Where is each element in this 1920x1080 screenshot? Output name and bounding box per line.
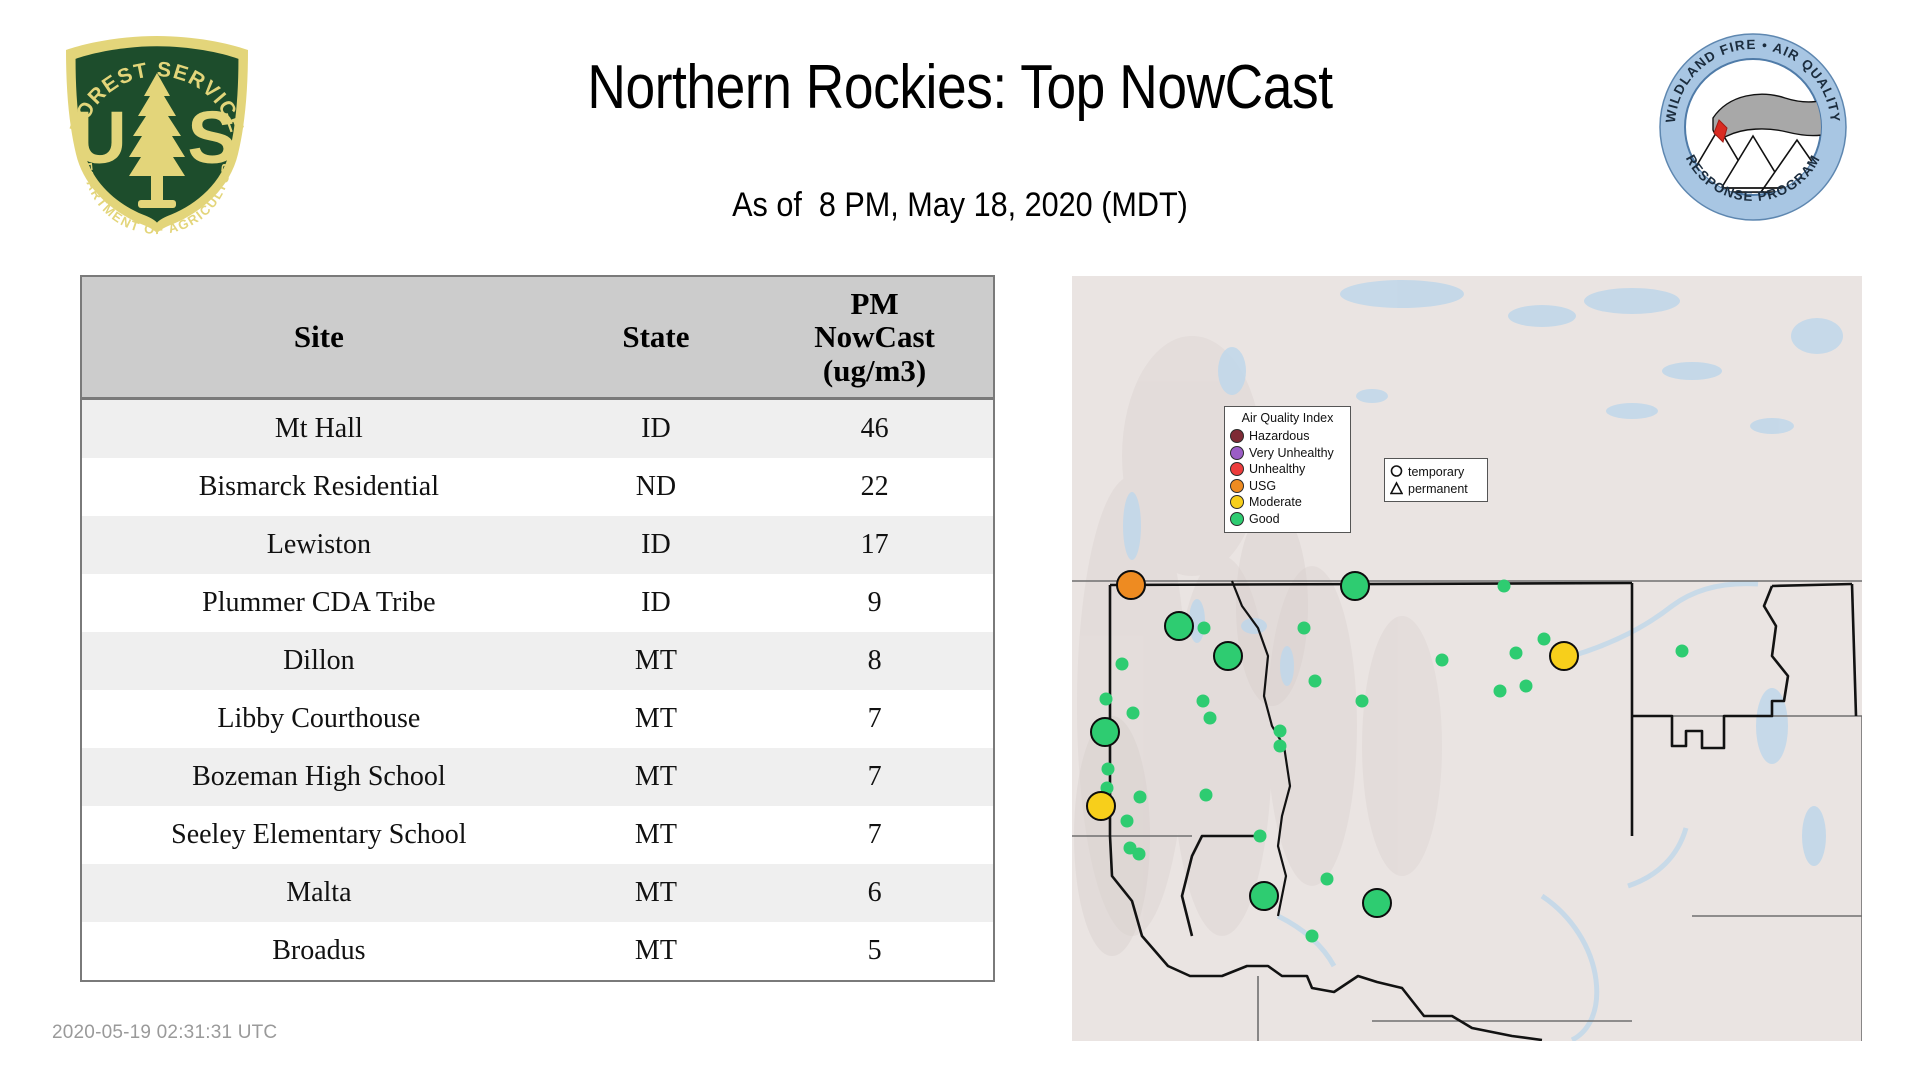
aqi-legend-title: Air Quality Index [1230,411,1345,425]
aqi-legend-label: Unhealthy [1249,462,1305,476]
site-cell: Lewiston [82,516,556,574]
monitor-marker-secondary[interactable] [1498,580,1511,593]
table-header-row: Site State PM NowCast (ug/m3) [82,277,993,399]
site-cell: Malta [82,864,556,922]
aqi-legend-label: Good [1249,512,1280,526]
monitor-marker-secondary[interactable] [1306,930,1319,943]
site-cell: Seeley Elementary School [82,806,556,864]
state-cell: MT [556,690,756,748]
monitor-marker-secondary[interactable] [1298,622,1311,635]
pm-nowcast-cell: 7 [756,690,993,748]
aqi-legend-row: USG [1230,478,1345,495]
monitor-marker-primary[interactable] [1340,571,1370,601]
air-quality-map[interactable]: Air Quality Index HazardousVery Unhealth… [1072,276,1862,1041]
monitor-type-legend: temporary permanent [1384,458,1488,502]
site-cell: Broadus [82,922,556,980]
monitor-marker-secondary[interactable] [1100,693,1113,706]
monitor-marker-secondary[interactable] [1494,685,1507,698]
table-row[interactable]: MaltaMT6 [82,864,993,922]
pm-nowcast-cell: 5 [756,922,993,980]
monitor-marker-secondary[interactable] [1510,647,1523,660]
poster-canvas: FOREST SERVICE DEPARTMENT OF AGRICULTURE… [0,0,1920,1080]
pm-nowcast-cell: 17 [756,516,993,574]
state-cell: ND [556,458,756,516]
page-title: Northern Rockies: Top NowCast [134,52,1785,123]
site-cell: Libby Courthouse [82,690,556,748]
nowcast-table: Site State PM NowCast (ug/m3) Mt HallID4… [82,277,993,980]
table-row[interactable]: Libby CourthouseMT7 [82,690,993,748]
pm-nowcast-cell: 22 [756,458,993,516]
table-row[interactable]: LewistonID17 [82,516,993,574]
shield-letter-u: U [73,96,126,179]
aqi-swatch-icon [1230,446,1244,460]
state-cell: ID [556,399,756,459]
pm-nowcast-cell: 7 [756,806,993,864]
table-body: Mt HallID46Bismarck ResidentialND22Lewis… [82,399,993,981]
monitor-marker-secondary[interactable] [1102,763,1115,776]
table-row[interactable]: Seeley Elementary SchoolMT7 [82,806,993,864]
monitor-marker-primary[interactable] [1549,641,1579,671]
monitor-marker-secondary[interactable] [1204,712,1217,725]
table-row[interactable]: Mt HallID46 [82,399,993,459]
monitor-marker-secondary[interactable] [1436,654,1449,667]
site-cell: Mt Hall [82,399,556,459]
table-row[interactable]: Bismarck ResidentialND22 [82,458,993,516]
aqi-legend-row: Unhealthy [1230,461,1345,478]
table-row[interactable]: BroadusMT5 [82,922,993,980]
monitor-marker-secondary[interactable] [1133,848,1146,861]
monitor-marker-secondary[interactable] [1121,815,1134,828]
aqi-legend-label: Hazardous [1249,429,1309,443]
map-basemap [1072,276,1862,1041]
aqi-legend-label: Moderate [1249,495,1302,509]
column-header-line-1: PM [850,286,898,321]
monitor-marker-secondary[interactable] [1538,633,1551,646]
site-cell: Plummer CDA Tribe [82,574,556,632]
pm-nowcast-cell: 8 [756,632,993,690]
monitor-marker-primary[interactable] [1116,570,1146,600]
pm-nowcast-cell: 9 [756,574,993,632]
monitor-marker-secondary[interactable] [1309,675,1322,688]
aqi-legend-label: Very Unhealthy [1249,446,1334,460]
monitor-marker-primary[interactable] [1090,717,1120,747]
site-cell: Bismarck Residential [82,458,556,516]
state-cell: MT [556,748,756,806]
monitor-marker-primary[interactable] [1086,791,1116,821]
aqi-legend-row: Very Unhealthy [1230,445,1345,462]
column-header-line-3: (ug/m3) [823,353,926,388]
table-header: Site State PM NowCast (ug/m3) [82,277,993,399]
pm-nowcast-cell: 6 [756,864,993,922]
aqi-swatch-icon [1230,429,1244,443]
state-cell: MT [556,632,756,690]
table-row[interactable]: DillonMT8 [82,632,993,690]
circle-outline-icon [1390,464,1403,479]
state-cell: ID [556,516,756,574]
wfaqrp-seal-logo: WILDLAND FIRE • AIR QUALITY RESPONSE PRO… [1657,32,1849,222]
monitor-marker-secondary[interactable] [1676,645,1689,658]
legend-label-temporary: temporary [1408,465,1464,479]
monitor-marker-secondary[interactable] [1356,695,1369,708]
aqi-swatch-icon [1230,462,1244,476]
column-header-site[interactable]: Site [82,277,556,399]
state-cell: MT [556,922,756,980]
monitor-marker-secondary[interactable] [1127,707,1140,720]
site-cell: Bozeman High School [82,748,556,806]
monitor-marker-secondary[interactable] [1520,680,1533,693]
page-subtitle: As of 8 PM, May 18, 2020 (MDT) [96,186,1824,225]
monitor-marker-secondary[interactable] [1321,873,1334,886]
nowcast-table-container: Site State PM NowCast (ug/m3) Mt HallID4… [80,275,995,982]
monitor-marker-primary[interactable] [1164,611,1194,641]
monitor-marker-secondary[interactable] [1274,725,1287,738]
pm-nowcast-cell: 7 [756,748,993,806]
state-cell: MT [556,806,756,864]
legend-row-permanent: permanent [1390,480,1482,497]
aqi-legend-row: Hazardous [1230,428,1345,445]
aqi-legend-row: Moderate [1230,494,1345,511]
state-cell: ID [556,574,756,632]
pm-nowcast-cell: 46 [756,399,993,459]
aqi-legend: Air Quality Index HazardousVery Unhealth… [1224,406,1351,533]
site-cell: Dillon [82,632,556,690]
aqi-swatch-icon [1230,512,1244,526]
monitor-marker-secondary[interactable] [1134,791,1147,804]
monitor-marker-secondary[interactable] [1254,830,1267,843]
monitor-marker-secondary[interactable] [1274,740,1287,753]
column-header-state[interactable]: State [556,277,756,399]
aqi-swatch-icon [1230,495,1244,509]
aqi-swatch-icon [1230,479,1244,493]
monitor-marker-primary[interactable] [1213,641,1243,671]
column-header-pm-nowcast[interactable]: PM NowCast (ug/m3) [756,277,993,399]
monitor-marker-secondary[interactable] [1200,789,1213,802]
table-row[interactable]: Plummer CDA TribeID9 [82,574,993,632]
monitor-marker-secondary[interactable] [1116,658,1129,671]
monitor-marker-secondary[interactable] [1198,622,1211,635]
monitor-marker-secondary[interactable] [1197,695,1210,708]
column-header-line-2: NowCast [814,319,935,354]
monitor-marker-primary[interactable] [1362,888,1392,918]
aqi-legend-label: USG [1249,479,1276,493]
triangle-outline-icon [1390,481,1403,496]
state-cell: MT [556,864,756,922]
table-row[interactable]: Bozeman High SchoolMT7 [82,748,993,806]
legend-label-permanent: permanent [1408,482,1468,496]
generated-timestamp: 2020-05-19 02:31:31 UTC [52,1022,277,1044]
monitor-marker-primary[interactable] [1249,881,1279,911]
aqi-legend-row: Good [1230,511,1345,528]
legend-row-temporary: temporary [1390,463,1482,480]
